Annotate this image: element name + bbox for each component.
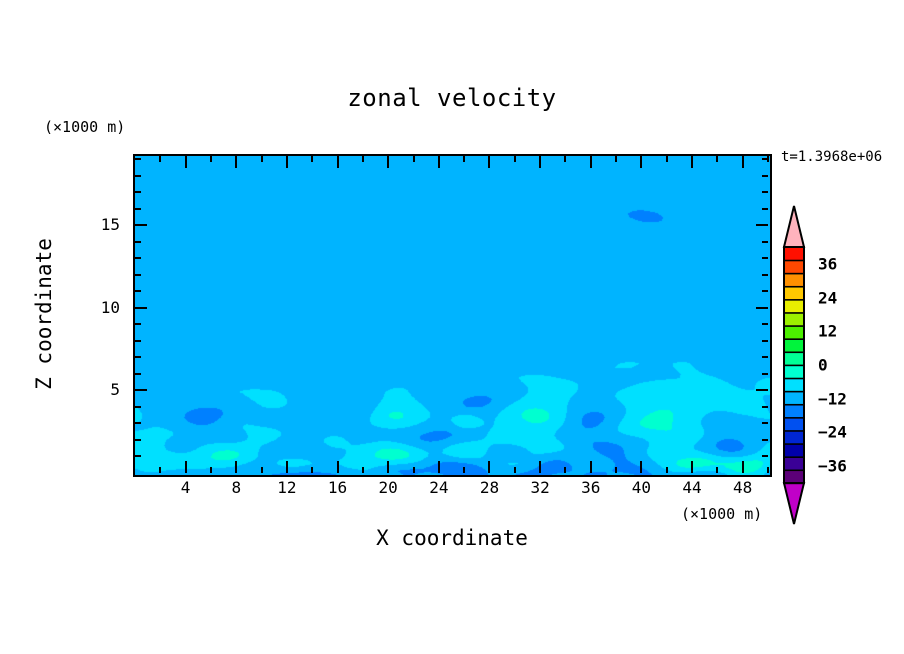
x-tick-label: 4 [166, 478, 206, 497]
y-tick-minor [135, 439, 141, 441]
y-tick-minor-right [762, 356, 768, 358]
y-tick-minor-right [762, 274, 768, 276]
x-tick-major-top [438, 156, 440, 168]
colorbar-band [784, 457, 804, 471]
y-tick-major [135, 307, 147, 309]
x-tick-label: 24 [419, 478, 459, 497]
x-tick-major-top [185, 156, 187, 168]
x-tick-label: 44 [672, 478, 712, 497]
y-tick-minor [135, 455, 141, 457]
x-tick-major [286, 461, 288, 473]
y-tick-major [135, 224, 147, 226]
y-tick-minor [135, 158, 141, 160]
y-tick-minor [135, 274, 141, 276]
x-axis-title: X coordinate [0, 526, 904, 550]
colorbar-band [784, 260, 804, 274]
y-tick-minor-right [762, 340, 768, 342]
colorbar-band [784, 352, 804, 366]
colorbar-tick-label: 12 [818, 322, 837, 341]
x-tick-minor [666, 467, 668, 473]
x-tick-label: 28 [469, 478, 509, 497]
colorbar-band [784, 404, 804, 418]
x-tick-major-top [640, 156, 642, 168]
x-tick-major-top [742, 156, 744, 168]
x-tick-major-top [387, 156, 389, 168]
y-tick-major-right [756, 224, 768, 226]
y-tick-minor-right [762, 208, 768, 210]
x-tick-minor [463, 467, 465, 473]
x-tick-label: 12 [267, 478, 307, 497]
y-tick-major-right [756, 389, 768, 391]
y-tick-minor-right [762, 406, 768, 408]
colorbar-band [784, 326, 804, 340]
chart-title: zonal velocity [0, 84, 904, 112]
colorbar-swatches [780, 205, 810, 525]
x-tick-label: 48 [723, 478, 763, 497]
x-tick-minor [615, 467, 617, 473]
colorbar-over-arrow [784, 206, 804, 247]
colorbar-band [784, 286, 804, 300]
x-tick-major-top [691, 156, 693, 168]
y-tick-minor [135, 323, 141, 325]
y-tick-major-right [756, 307, 768, 309]
x-tick-label: 40 [621, 478, 661, 497]
colorbar-band [784, 247, 804, 261]
x-tick-major [185, 461, 187, 473]
y-tick-minor [135, 290, 141, 292]
y-tick-minor [135, 257, 141, 259]
colorbar-tick-label: −12 [818, 389, 847, 408]
y-tick-minor [135, 175, 141, 177]
x-tick-minor-top [362, 156, 364, 162]
y-axis-unit-label: (×1000 m) [44, 118, 125, 136]
colorbar-band [784, 273, 804, 287]
x-tick-major [590, 461, 592, 473]
colorbar-band [784, 391, 804, 405]
y-tick-minor [135, 422, 141, 424]
y-tick-minor [135, 208, 141, 210]
colorbar-band [784, 417, 804, 431]
contour-field [135, 156, 770, 475]
x-tick-label: 16 [318, 478, 358, 497]
y-tick-minor-right [762, 455, 768, 457]
x-tick-major-top [590, 156, 592, 168]
colorbar-tick-label: 0 [818, 356, 828, 375]
x-tick-major [691, 461, 693, 473]
x-tick-minor [210, 467, 212, 473]
x-tick-minor-top [413, 156, 415, 162]
y-tick-minor-right [762, 191, 768, 193]
y-tick-minor-right [762, 241, 768, 243]
y-tick-minor [135, 191, 141, 193]
colorbar-tick-label: 36 [818, 254, 837, 273]
x-tick-minor [716, 467, 718, 473]
y-tick-minor-right [762, 373, 768, 375]
x-tick-minor [159, 467, 161, 473]
x-axis-unit-label: (×1000 m) [681, 505, 762, 523]
colorbar-tick-label: −24 [818, 423, 847, 442]
x-tick-minor [564, 467, 566, 473]
y-tick-minor [135, 406, 141, 408]
colorbar-band [784, 444, 804, 458]
time-annotation: t=1.3968e+06 [781, 149, 882, 165]
x-tick-minor [311, 467, 313, 473]
colorbar[interactable]: 3624120−12−24−36 [780, 205, 810, 525]
x-tick-major [235, 461, 237, 473]
x-tick-major [640, 461, 642, 473]
x-tick-minor [514, 467, 516, 473]
colorbar-tick-label: −36 [818, 457, 847, 476]
colorbar-band [784, 313, 804, 327]
x-tick-minor-top [159, 156, 161, 162]
x-tick-minor-top [463, 156, 465, 162]
x-tick-minor-top [210, 156, 212, 162]
y-tick-minor-right [762, 439, 768, 441]
x-tick-minor-top [666, 156, 668, 162]
x-tick-major-top [286, 156, 288, 168]
x-tick-major-top [539, 156, 541, 168]
x-tick-major-top [488, 156, 490, 168]
x-tick-minor-top [615, 156, 617, 162]
y-tick-minor-right [762, 158, 768, 160]
colorbar-band [784, 378, 804, 392]
x-tick-minor [413, 467, 415, 473]
x-tick-major [387, 461, 389, 473]
y-tick-label: 10 [0, 298, 128, 317]
x-tick-major [438, 461, 440, 473]
x-tick-minor-top [716, 156, 718, 162]
y-tick-label: 5 [0, 380, 128, 399]
colorbar-band [784, 365, 804, 379]
x-tick-major [539, 461, 541, 473]
y-tick-minor-right [762, 257, 768, 259]
x-tick-minor [261, 467, 263, 473]
plot-area[interactable] [133, 154, 772, 477]
x-tick-minor-top [564, 156, 566, 162]
x-tick-label: 36 [571, 478, 611, 497]
colorbar-tick-label: 24 [818, 288, 837, 307]
y-tick-minor [135, 373, 141, 375]
x-tick-major [337, 461, 339, 473]
x-tick-minor-top [514, 156, 516, 162]
x-tick-minor [362, 467, 364, 473]
chart-root: zonal velocity (×1000 m) (×1000 m) t=1.3… [0, 0, 904, 654]
colorbar-under-arrow [784, 483, 804, 524]
y-tick-minor [135, 241, 141, 243]
y-tick-minor-right [762, 290, 768, 292]
y-tick-minor-right [762, 422, 768, 424]
y-tick-minor-right [762, 323, 768, 325]
y-tick-major [135, 389, 147, 391]
x-tick-minor-top [311, 156, 313, 162]
y-tick-minor-right [762, 175, 768, 177]
x-tick-label: 20 [368, 478, 408, 497]
colorbar-band [784, 339, 804, 353]
x-tick-major-top [337, 156, 339, 168]
y-axis-title: Z coordinate [32, 194, 56, 434]
x-tick-major [488, 461, 490, 473]
y-tick-minor [135, 356, 141, 358]
y-tick-minor [135, 340, 141, 342]
colorbar-band [784, 431, 804, 445]
y-tick-label: 15 [0, 215, 128, 234]
x-tick-label: 32 [520, 478, 560, 497]
x-tick-major [742, 461, 744, 473]
x-tick-major-top [235, 156, 237, 168]
x-tick-minor-top [261, 156, 263, 162]
x-tick-minor [767, 467, 769, 473]
x-tick-label: 8 [216, 478, 256, 497]
colorbar-band [784, 299, 804, 313]
colorbar-band [784, 470, 804, 484]
